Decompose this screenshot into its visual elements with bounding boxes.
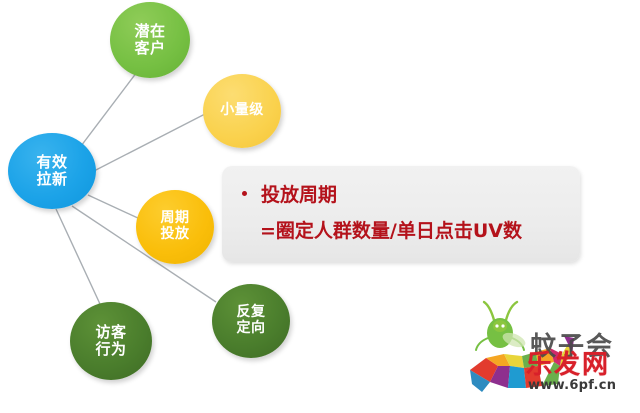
node-potential-label-line1: 潜在 [134, 23, 165, 40]
node-visitor-label-line1: 访客 [95, 324, 126, 341]
diagram-canvas: 有效 拉新 潜在 客户 小量级 周期 投放 访客 行为 反复 定向 投放周期 =… [0, 0, 640, 409]
node-visitor-label-line2: 行为 [95, 341, 126, 358]
node-retarget-label-line2: 定向 [237, 321, 266, 337]
node-cyclic-label-line2: 投放 [161, 227, 190, 243]
mosquito-icon [476, 302, 527, 350]
connector-hub-to-potential [78, 68, 140, 150]
watermark-overlay-text: 乐发网 [526, 344, 610, 381]
bullet-icon [242, 191, 247, 196]
connector-hub-to-smallscale [92, 114, 205, 172]
callout-bullet-text: 投放周期 [261, 180, 337, 207]
callout-box: 投放周期 =圈定人群数量/单日点击UV数 [222, 166, 580, 262]
node-retarget-label-line1: 反复 [237, 305, 266, 321]
watermark: 蚊子会 乐发网 www.6pf.cn [468, 296, 640, 409]
node-hub-effective-acquisition[interactable]: 有效 拉新 [8, 133, 96, 209]
callout-formula-text: =圈定人群数量/单日点击UV数 [260, 216, 522, 243]
connector-hub-to-cyclic [88, 195, 140, 219]
node-potential-customers[interactable]: 潜在 客户 [110, 2, 190, 78]
node-small-scale[interactable]: 小量级 [203, 74, 281, 148]
node-cyclic-delivery[interactable]: 周期 投放 [136, 190, 214, 264]
node-repeat-targeting[interactable]: 反复 定向 [212, 284, 290, 358]
node-visitor-behavior[interactable]: 访客 行为 [70, 302, 152, 380]
callout-bullet-row: 投放周期 [242, 180, 337, 207]
node-small-scale-label: 小量级 [220, 103, 264, 119]
node-hub-label-line2: 拉新 [36, 171, 67, 188]
node-cyclic-label-line1: 周期 [161, 211, 190, 227]
node-hub-label-line1: 有效 [36, 154, 67, 171]
watermark-url-text: www.6pf.cn [528, 378, 616, 393]
connector-hub-to-visitor [56, 209, 100, 304]
node-potential-label-line2: 客户 [134, 40, 165, 57]
